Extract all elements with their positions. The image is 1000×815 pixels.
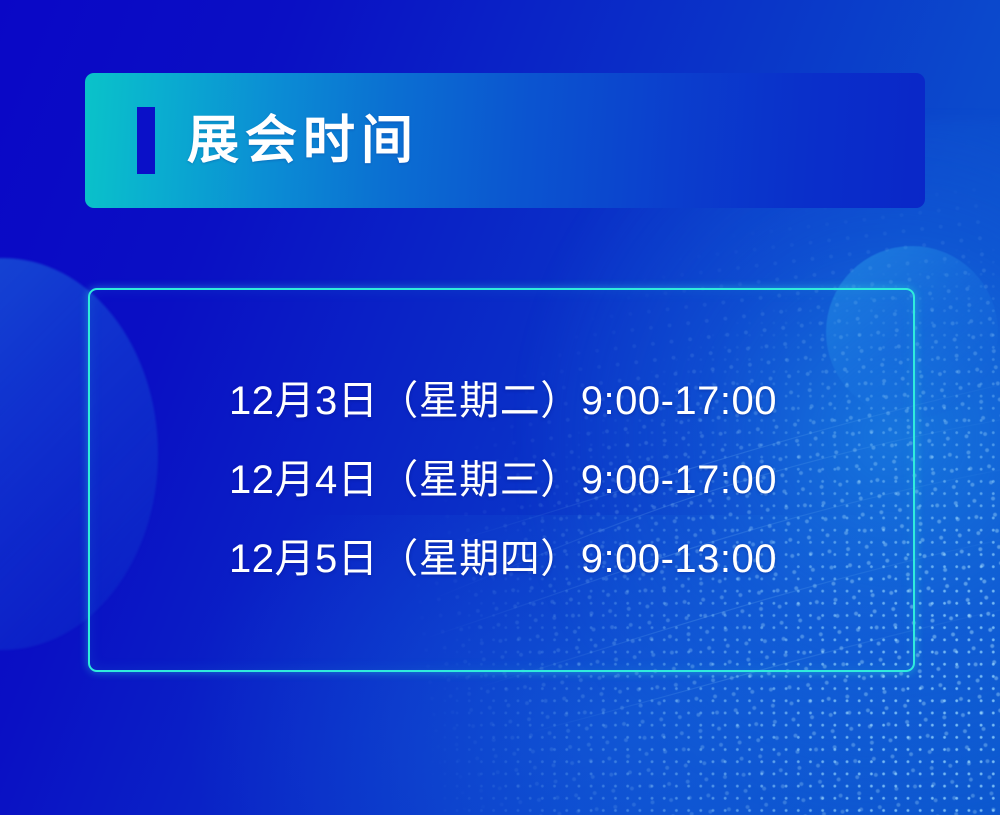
- schedule-row-3: 12月5日（星期四）9:00-13:00: [229, 520, 913, 599]
- poster-canvas: 展会时间 12月3日（星期二）9:00-17:00 12月4日（星期三）9:00…: [0, 0, 1000, 815]
- schedule-row-1: 12月3日（星期二）9:00-17:00: [229, 362, 913, 441]
- header-banner: 展会时间: [85, 73, 925, 208]
- schedule-panel: 12月3日（星期二）9:00-17:00 12月4日（星期三）9:00-17:0…: [88, 288, 915, 672]
- page-title: 展会时间: [187, 115, 419, 167]
- schedule-row-2: 12月4日（星期三）9:00-17:00: [229, 441, 913, 520]
- vertical-accent-bar: [137, 107, 155, 174]
